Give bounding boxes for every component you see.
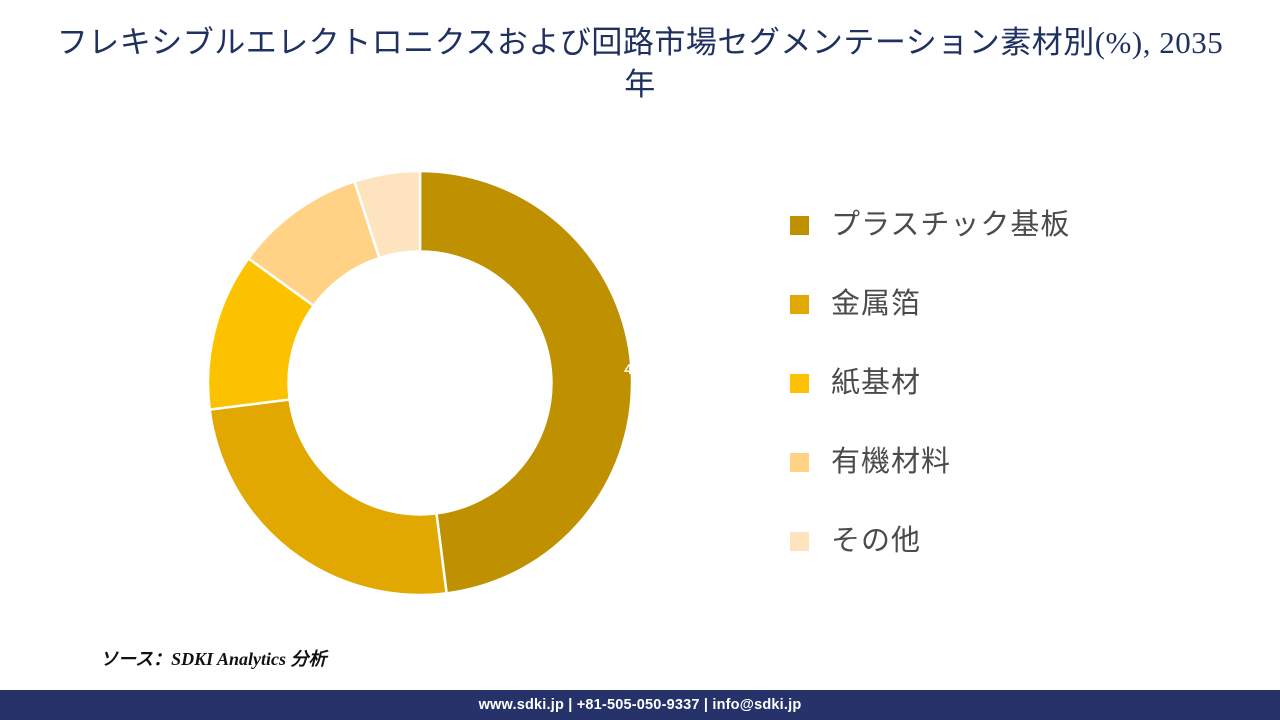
footer-bar: www.sdki.jp | +81-505-050-9337 | info@sd…: [0, 690, 1280, 720]
donut-svg: 48%: [190, 163, 650, 603]
donut-slice[interactable]: [420, 171, 632, 593]
source-note: ソース：SDKI Analytics 分析: [100, 645, 326, 671]
legend-item-others[interactable]: その他: [790, 502, 1220, 581]
chart-page: フレキシブルエレクトロニクスおよび回路市場セグメンテーション素材別(%), 20…: [0, 0, 1280, 720]
legend-swatch-icon: [790, 216, 809, 235]
slice-data-label: 48%: [624, 361, 650, 378]
legend-swatch-icon: [790, 374, 809, 393]
legend-item-label: プラスチック基板: [831, 211, 1070, 240]
legend-swatch-icon: [790, 295, 809, 314]
footer-contact-text: www.sdki.jp | +81-505-050-9337 | info@sd…: [479, 697, 802, 713]
page-title: フレキシブルエレクトロニクスおよび回路市場セグメンテーション素材別(%), 20…: [50, 22, 1230, 106]
legend-item-plastic-substrate[interactable]: プラスチック基板: [790, 186, 1220, 265]
legend-item-organic-material[interactable]: 有機材料: [790, 423, 1220, 502]
donut-slice[interactable]: [210, 399, 447, 595]
legend-item-label: 紙基材: [831, 369, 921, 398]
donut-chart: 48%: [190, 163, 650, 603]
legend-item-paper-substrate[interactable]: 紙基材: [790, 344, 1220, 423]
legend-swatch-icon: [790, 532, 809, 551]
donut-slices: [208, 171, 632, 595]
chart-legend: プラスチック基板 金属箔 紙基材 有機材料 その他: [790, 186, 1220, 581]
legend-swatch-icon: [790, 453, 809, 472]
legend-item-label: その他: [831, 527, 921, 556]
legend-item-label: 有機材料: [831, 448, 951, 477]
legend-item-metal-foil[interactable]: 金属箔: [790, 265, 1220, 344]
donut-data-labels: 48%: [624, 361, 650, 378]
legend-item-label: 金属箔: [831, 290, 921, 319]
